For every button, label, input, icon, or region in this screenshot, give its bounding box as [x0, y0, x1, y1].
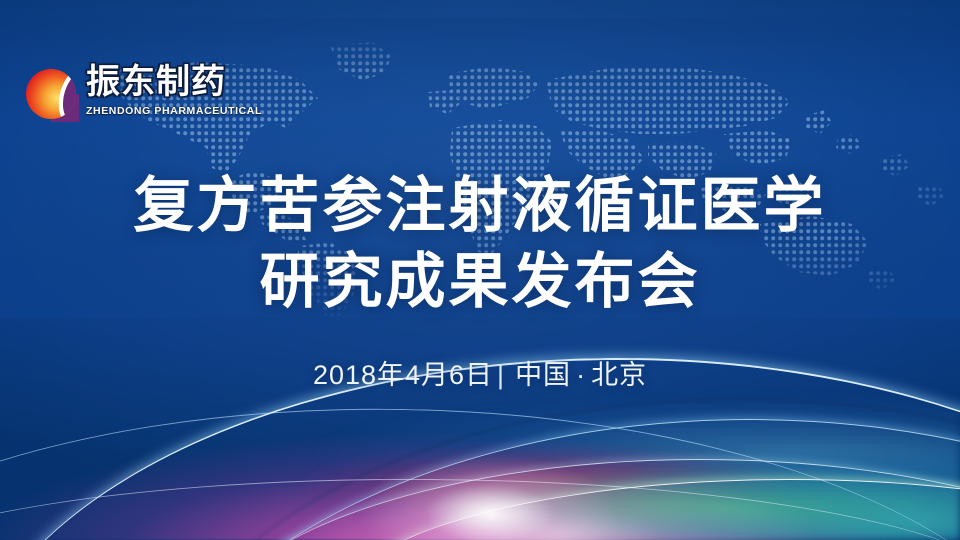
- event-location-dot: ·: [576, 356, 586, 394]
- poster-canvas: 振东制药 ZHENDONG PHARMACEUTICAL 复方苦参注射液循证医学…: [0, 0, 960, 540]
- event-separator: |: [497, 356, 505, 394]
- event-country: 中国: [515, 360, 571, 390]
- poster-title-line1: 复方苦参注射液循证医学: [0, 168, 960, 244]
- poster-title: 复方苦参注射液循证医学 研究成果发布会: [0, 168, 960, 320]
- event-info: 2018年4月6日|中国·北京: [0, 356, 960, 394]
- event-city: 北京: [591, 360, 647, 390]
- brand-name-en: ZHENDONG PHARMACEUTICAL: [86, 105, 256, 117]
- poster-title-line2: 研究成果发布会: [0, 244, 960, 320]
- brand-logo-text: 振东制药 ZHENDONG PHARMACEUTICAL: [86, 60, 256, 117]
- brand-logo: 振东制药 ZHENDONG PHARMACEUTICAL: [22, 60, 252, 142]
- brand-name-cn: 振东制药: [86, 60, 256, 104]
- center-burst: [360, 454, 620, 540]
- event-date: 2018年4月6日: [313, 360, 493, 390]
- zhendong-logo-icon: [22, 63, 84, 125]
